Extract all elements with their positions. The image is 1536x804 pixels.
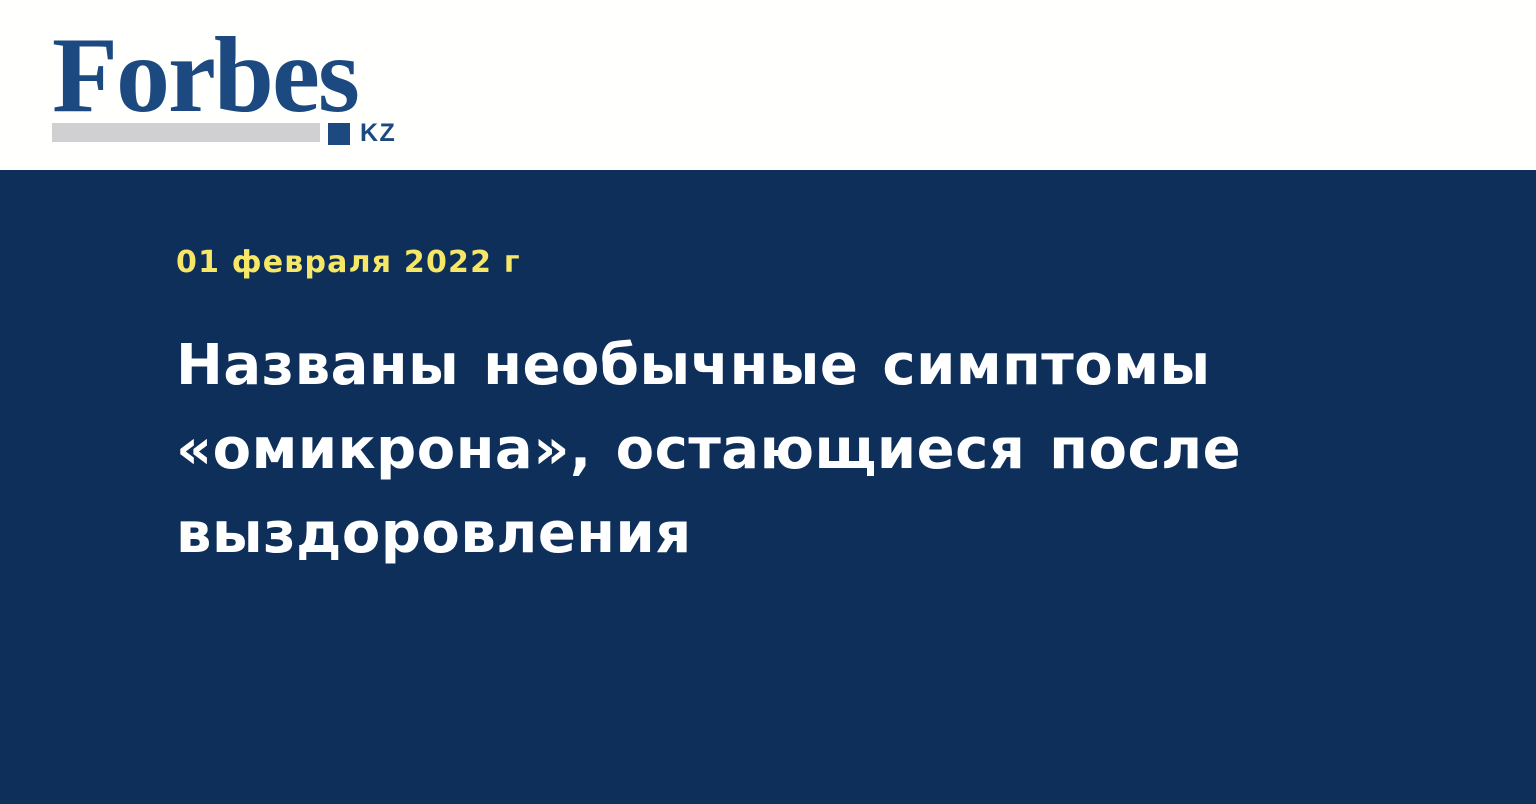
page-title: Названы необычные симптомы «омикрона», о… [176,280,1291,576]
site-header: Forbes KZ [0,0,1536,170]
brand-suffix-label: KZ [360,121,396,146]
article-hero-content: 01 февраля 2022 г Названы необычные симп… [176,170,1336,576]
logo-square-icon [328,123,350,145]
article-date: 01 февраля 2022 г [176,170,1336,280]
logo-underbar-icon [52,123,320,142]
forbes-kz-logo[interactable]: Forbes KZ [52,22,412,148]
brand-wordmark: Forbes [52,22,358,130]
article-hero: 01 февраля 2022 г Названы необычные симп… [0,170,1536,804]
article-page: Forbes KZ 01 февраля 2022 г Названы необ… [0,0,1536,804]
